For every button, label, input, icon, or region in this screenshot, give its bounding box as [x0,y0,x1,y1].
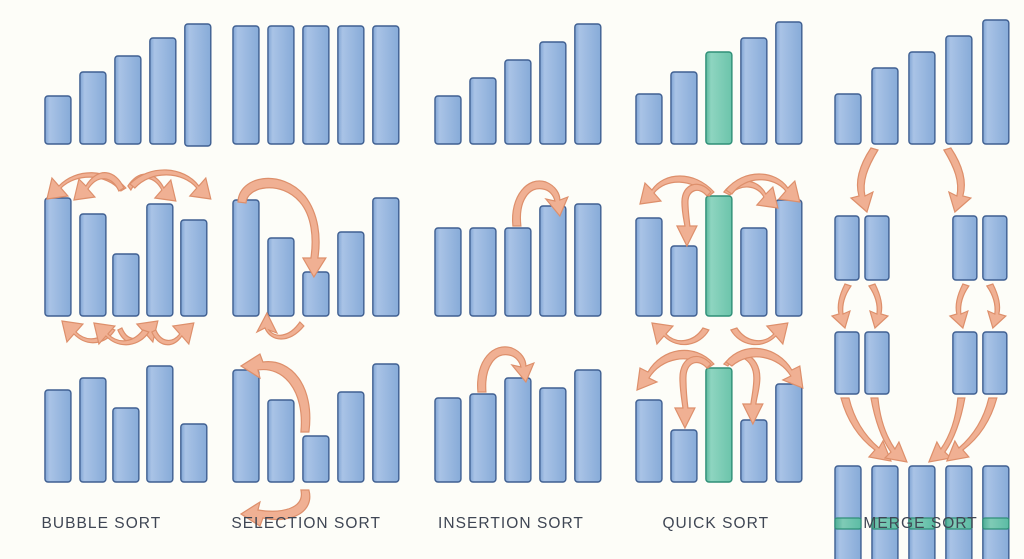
column-quick-sort: QUICK SORT [614,0,819,559]
label-insertion-sort: INSERTION SORT [409,515,614,533]
bubble-row-2-bars [45,198,207,316]
insertion-row-3-bars [435,370,601,482]
label-bubble-sort: BUBBLE SORT [0,515,204,533]
algorithm-columns: BUBBLE SORT [0,0,1024,559]
bubble-row-1-bars [45,24,211,146]
column-bubble-sort: BUBBLE SORT [0,0,205,559]
selection-row-1-bars [233,26,399,144]
bubble-sort-diagram [0,0,205,559]
merge-row-3-bars [835,332,1007,394]
quick-row-3-bars [636,368,802,482]
insertion-row-1-bars [435,24,601,144]
selection-row-3-bars [233,364,399,482]
quick-sort-diagram [614,0,819,559]
pivot-bar [706,52,732,144]
merge-row-4-bars [835,466,1009,559]
label-quick-sort: QUICK SORT [613,515,818,533]
sorting-algorithms-poster: BUBBLE SORT [0,0,1024,559]
quick-row-1-bars [636,22,802,144]
insertion-sort-diagram [410,0,615,559]
pivot-bar [706,368,732,482]
column-selection-sort: SELECTION SORT [205,0,410,559]
column-insertion-sort: INSERTION SORT [410,0,615,559]
label-merge-sort: MERGE SORT [818,515,1023,533]
merge-combine-arrows [841,398,997,462]
merge-row-2-bars [835,216,1007,280]
merge-sort-diagram [819,0,1024,559]
merge-split-arrows-level-1 [851,148,971,212]
selection-sort-diagram [205,0,410,559]
pivot-bar [706,196,732,316]
merge-row-1-bars [835,20,1009,144]
quick-row-2-bars [636,196,802,316]
merge-split-arrows-level-2 [832,284,1006,328]
label-selection-sort: SELECTION SORT [204,515,409,533]
column-merge-sort: MERGE SORT [819,0,1024,559]
bubble-row-3-bars [45,366,207,482]
